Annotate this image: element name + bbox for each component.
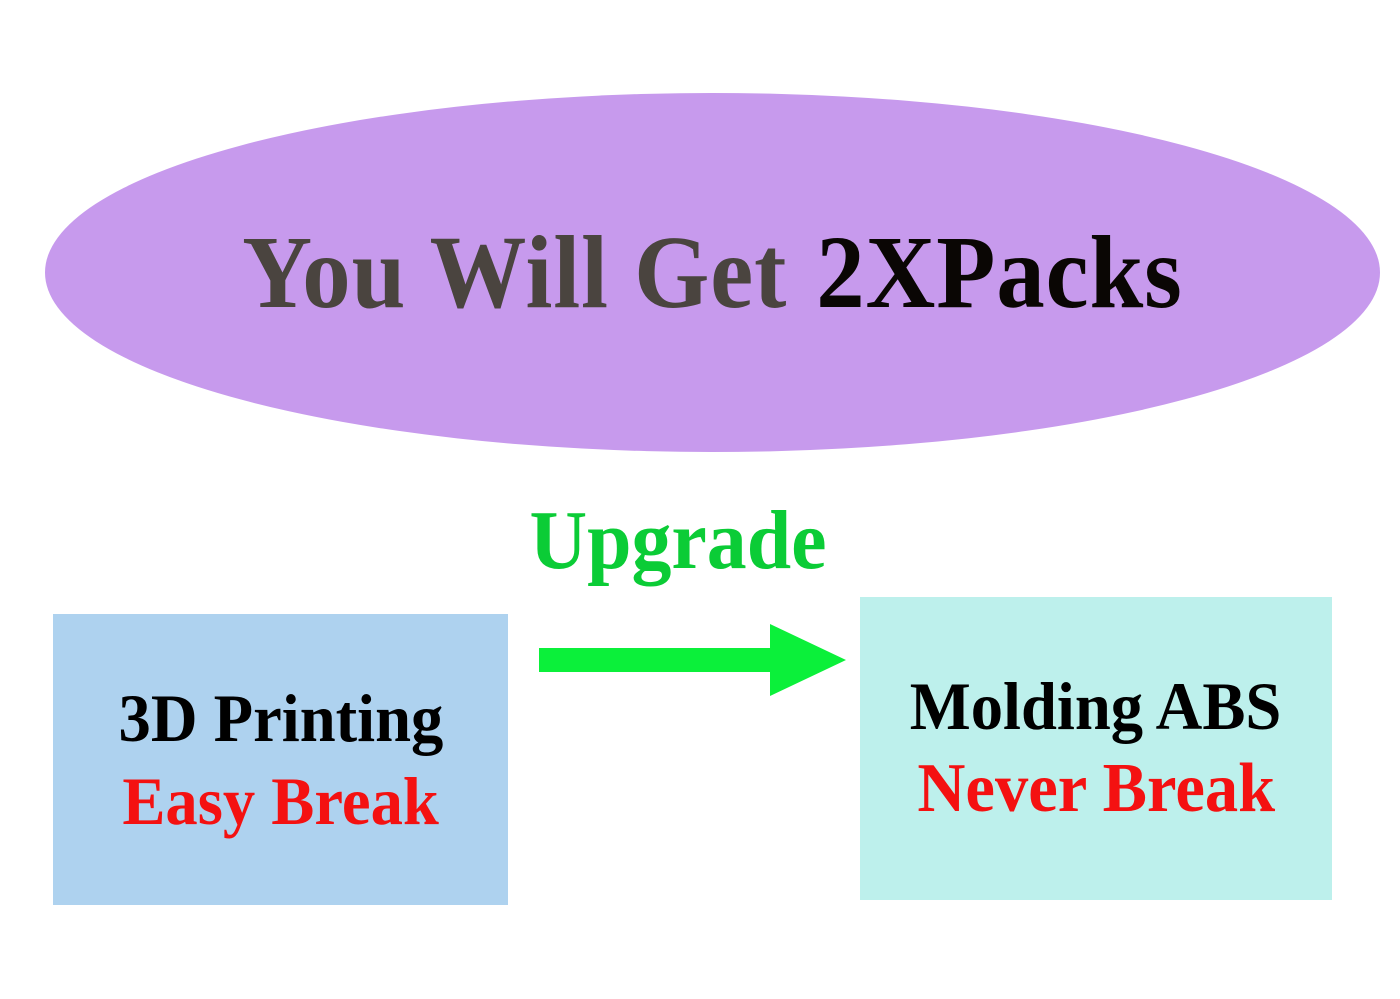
- after-secondary-label: Never Break: [917, 752, 1275, 826]
- comparison-box-after: Molding ABS Never Break: [860, 597, 1332, 900]
- headline-part-brand: 2XPacks: [816, 213, 1183, 332]
- headline-text: You Will Get 2XPacks: [92, 93, 1334, 452]
- upgrade-arrow-icon: [535, 618, 850, 702]
- before-secondary-label: Easy Break: [122, 765, 438, 837]
- before-primary-label: 3D Printing: [118, 682, 443, 754]
- after-primary-label: Molding ABS: [910, 670, 1282, 742]
- comparison-box-before: 3D Printing Easy Break: [53, 614, 508, 905]
- arrow-right-icon: [535, 618, 850, 702]
- headline-part-primary: You Will Get: [242, 213, 787, 332]
- upgrade-label: Upgrade: [488, 498, 868, 584]
- infographic-canvas: You Will Get 2XPacks Upgrade 3D Printing…: [0, 0, 1400, 999]
